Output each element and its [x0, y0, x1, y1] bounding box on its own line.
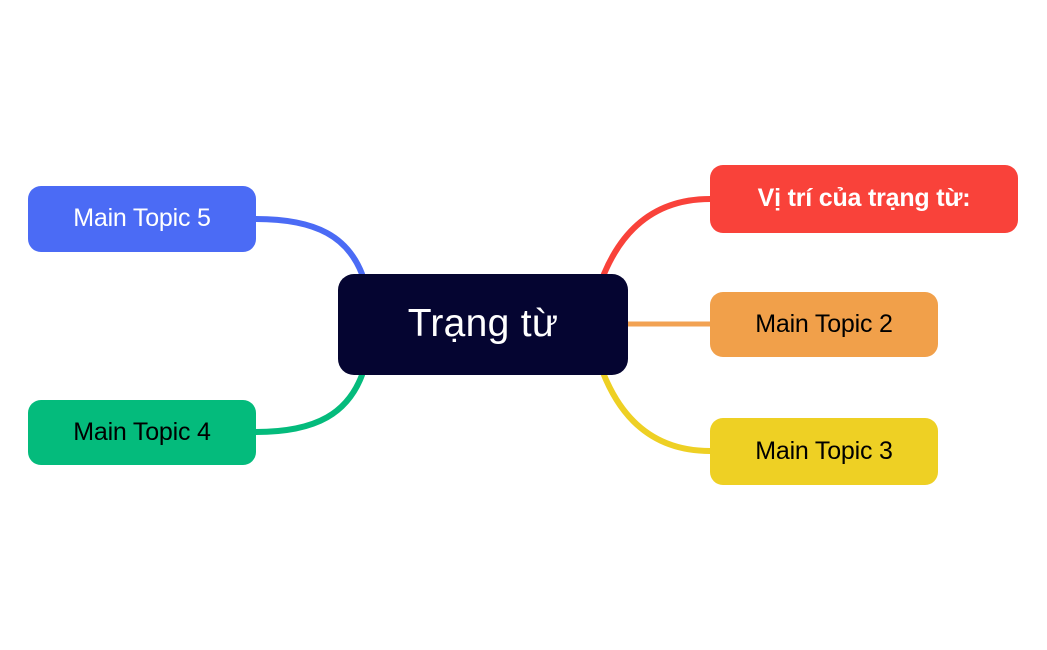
node-label: Trạng từ — [408, 303, 559, 346]
mindmap-canvas: Main Topic 5 Main Topic 4 Trạng từ Vị tr… — [0, 0, 1047, 650]
node-main-topic-3[interactable]: Main Topic 3 — [710, 418, 938, 485]
connector-green — [256, 375, 362, 432]
node-central-topic[interactable]: Trạng từ — [338, 274, 628, 375]
node-label: Main Topic 2 — [755, 311, 893, 339]
node-label: Main Topic 4 — [73, 419, 211, 447]
node-main-topic-2[interactable]: Main Topic 2 — [710, 292, 938, 357]
node-main-topic-4[interactable]: Main Topic 4 — [28, 400, 256, 465]
node-main-topic-5[interactable]: Main Topic 5 — [28, 186, 256, 252]
connector-yellow — [604, 375, 710, 451]
node-label: Main Topic 3 — [755, 438, 893, 466]
connector-blue — [256, 219, 362, 274]
node-label: Main Topic 5 — [73, 205, 211, 233]
connector-red — [604, 199, 710, 274]
node-label: Vị trí của trạng từ: — [758, 185, 971, 213]
node-vi-tri-cua-trang-tu[interactable]: Vị trí của trạng từ: — [710, 165, 1018, 233]
